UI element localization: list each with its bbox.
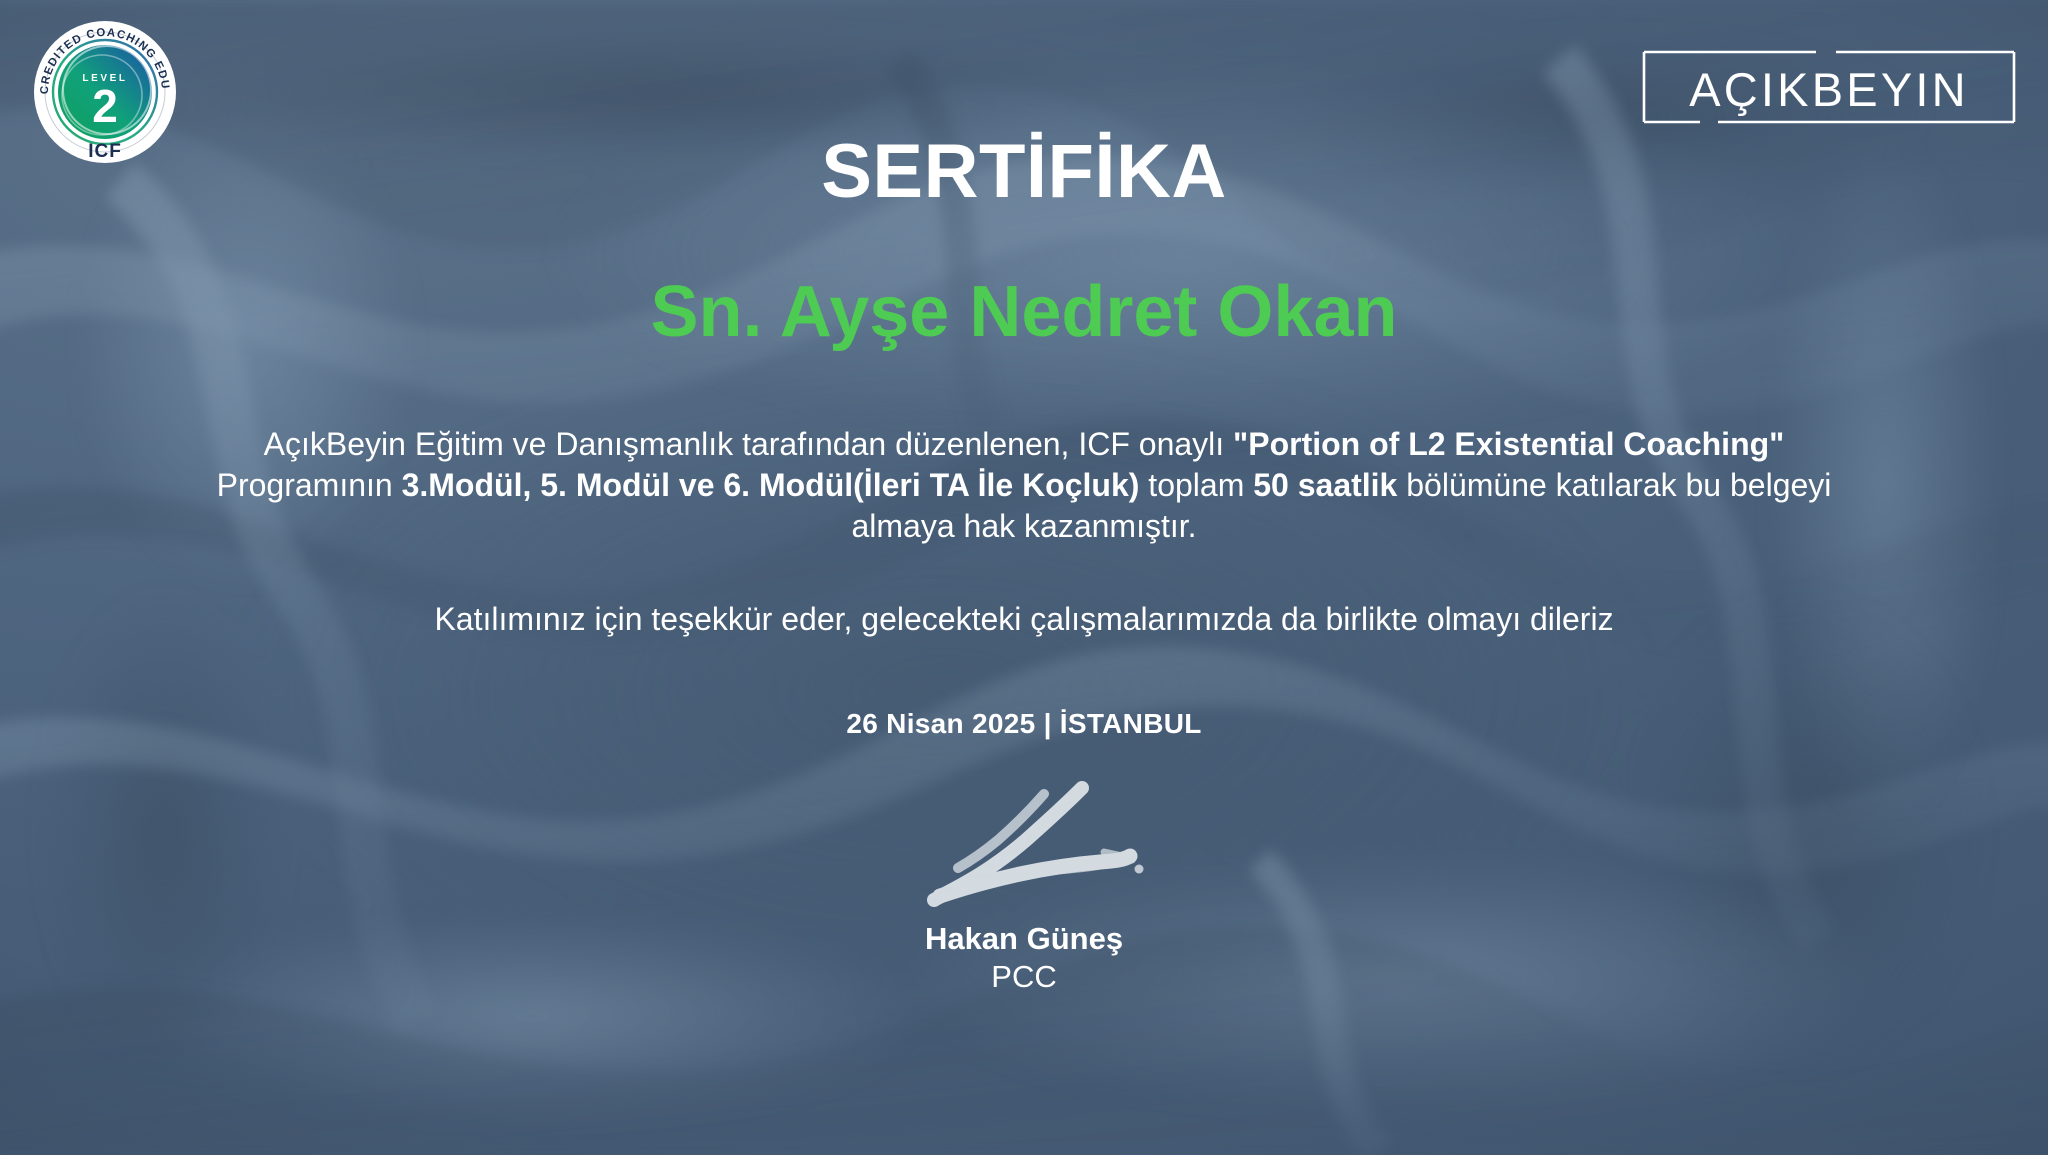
recipient-name: Sn. Ayşe Nedret Okan — [651, 276, 1398, 348]
body-segment-0: AçıkBeyin Eğitim ve Danışmanlık tarafınd… — [264, 426, 1233, 462]
body-segment-3: 3.Modül, 5. Modül ve 6. Modül(İleri TA İ… — [402, 467, 1140, 503]
body-segment-4: toplam — [1139, 467, 1253, 503]
signer-credential: PCC — [991, 959, 1056, 995]
signer-name: Hakan Güneş — [925, 921, 1123, 957]
certificate-body-text: AçıkBeyin Eğitim ve Danışmanlık tarafınd… — [184, 424, 1864, 547]
date-and-location: 26 Nisan 2025 | İSTANBUL — [846, 708, 1201, 740]
body-segment-2: Programının — [217, 467, 402, 503]
certificate-canvas: ICF-ACCREDITED COACHING EDUCATION LEVEL … — [0, 0, 2048, 1155]
certificate-content: SERTİFİKA Sn. Ayşe Nedret Okan AçıkBeyin… — [0, 0, 2048, 1155]
body-segment-1: "Portion of L2 Existential Coaching" — [1233, 426, 1784, 462]
body-segment-5: 50 saatlik — [1253, 467, 1397, 503]
thanks-message: Katılımınız için teşekkür eder, gelecekt… — [434, 601, 1613, 638]
handwritten-signature-icon — [894, 774, 1154, 909]
page-title: SERTİFİKA — [821, 134, 1227, 210]
